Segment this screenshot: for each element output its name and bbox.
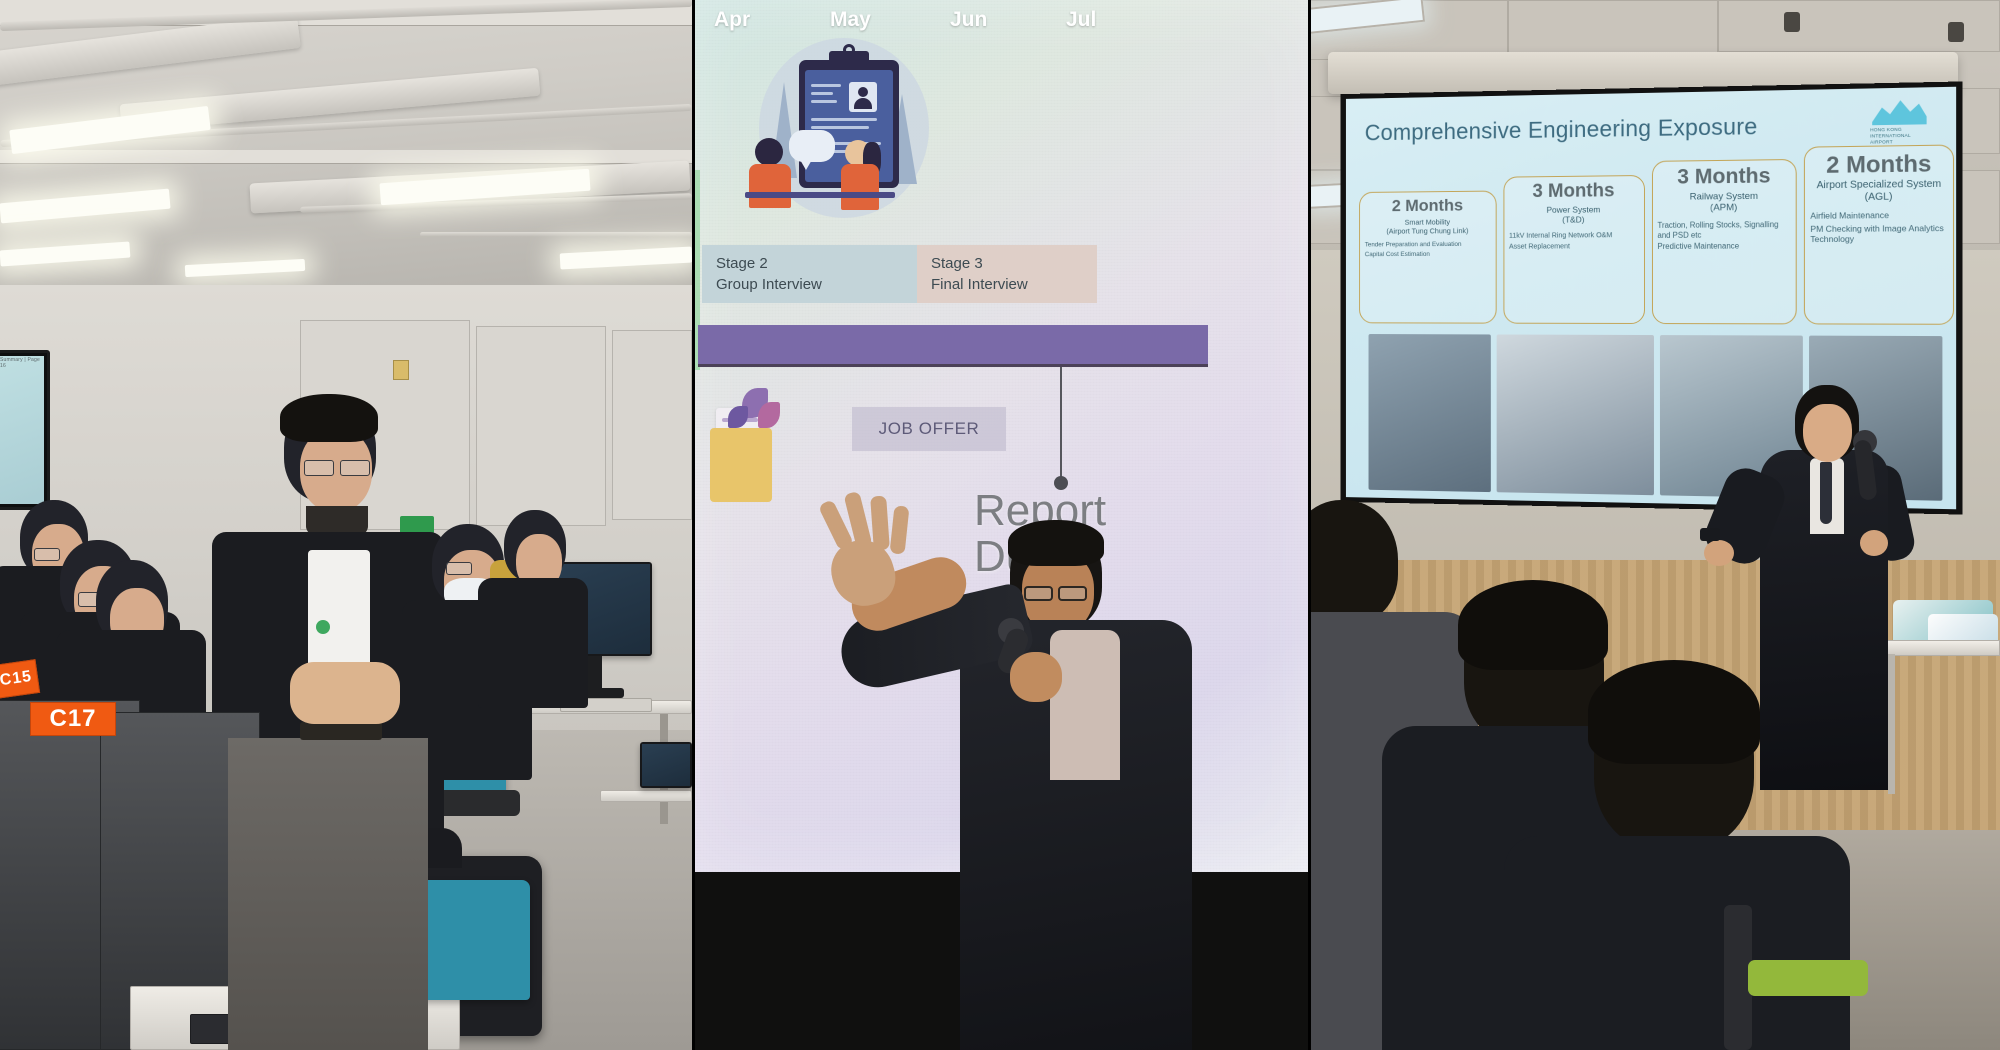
card-3-duration: 3 Months: [1657, 165, 1790, 189]
wall-display-screen: [0, 356, 44, 504]
student-4-glasses: [446, 562, 472, 575]
presenter-right-hand: [1860, 530, 1888, 556]
audience-3-hair: [1588, 660, 1760, 764]
card-2-bullet-2: Asset Replacement: [1509, 241, 1639, 251]
exposure-card-1: 2 Months Smart Mobility (Airport Tung Ch…: [1359, 191, 1496, 324]
decor-petal-2: [758, 402, 780, 428]
interview-illustration: [737, 30, 952, 230]
student-1-glasses: [34, 548, 60, 561]
slide-title: Comprehensive Engineering Exposure: [1365, 113, 1758, 146]
resume-line-2: [811, 92, 833, 95]
illustration-interviewer: [749, 138, 793, 200]
three-panel-photo-collage: Summary | Page 16: [0, 0, 2000, 1050]
speaker-clasped-hands: [290, 662, 400, 724]
panel-divider-2: [1308, 0, 1311, 1050]
ceiling-spotlight-2: [1948, 22, 1964, 42]
speaker-lapel-pin: [316, 620, 330, 634]
card-1-system-line-2: (Airport Tung Chung Link): [1365, 226, 1491, 236]
presenter-left-hand: [1704, 540, 1734, 566]
illustration-table: [745, 192, 895, 198]
wall-panel-3: [612, 330, 692, 520]
resume-avatar: [849, 82, 877, 112]
exposure-card-3: 3 Months Railway System (APM) Traction, …: [1651, 159, 1796, 324]
ceiling-tile-2: [1508, 0, 1718, 56]
avatar-body-icon: [854, 98, 872, 109]
clipboard-ring: [843, 44, 855, 56]
side-table-leg: [1888, 654, 1895, 794]
card-2-bullet-1: 11kV Internal Ring Network O&M: [1509, 230, 1639, 240]
wall-panel-2: [476, 326, 606, 526]
interviewer-head: [755, 138, 783, 166]
presenter-glasses-right: [1058, 586, 1087, 601]
card-4-duration: 2 Months: [1810, 151, 1947, 177]
card-4-bullet-2: PM Checking with Image Analytics Technol…: [1810, 223, 1947, 245]
candidate-body: [841, 164, 879, 210]
resume-line-4: [811, 118, 877, 121]
slide-photo-2: [1497, 334, 1654, 495]
month-jul: Jul: [1066, 8, 1096, 32]
student-5-body: [478, 578, 588, 708]
speaker-glasses-left: [304, 460, 334, 476]
monitor-3-screen: [642, 744, 690, 786]
stage-3-name: Final Interview: [931, 274, 1097, 295]
stage-3-chip: Stage 3 Final Interview: [917, 245, 1097, 303]
stage-2-chip: Stage 2 Group Interview: [702, 245, 917, 303]
card-4-system-line-2: (AGL): [1810, 191, 1947, 205]
stage-2-name: Group Interview: [716, 274, 917, 295]
resume-line-1: [811, 84, 841, 87]
workstation-label-c15: C15: [0, 659, 40, 699]
month-timeline-bar: [698, 325, 1208, 367]
ceiling-pipe-4: [420, 232, 692, 237]
back-desk-2: [600, 790, 692, 802]
speaker-belt: [300, 722, 382, 740]
card-1-bullet-2: Capital Cost Estimation: [1365, 251, 1491, 260]
card-3-system-line-2: (APM): [1657, 202, 1790, 215]
card-2-duration: 3 Months: [1509, 181, 1639, 202]
wall-display-text: Summary | Page 16: [0, 357, 47, 369]
speaker-glasses-right: [340, 460, 370, 476]
interview-stage-row: Stage 2 Group Interview Stage 3 Final In…: [702, 245, 1162, 303]
exposure-card-2: 3 Months Power System (T&D) 11kV Interna…: [1503, 175, 1644, 324]
card-3-bullets: Traction, Rolling Stocks, Signalling and…: [1657, 220, 1790, 254]
month-jun: Jun: [950, 8, 987, 32]
job-offer-chip: JOB OFFER: [852, 407, 1006, 451]
workstation-label-c17: C17: [30, 702, 116, 736]
audience-3-body: [1504, 836, 1850, 1050]
month-apr: Apr: [714, 8, 750, 32]
speaker-trousers: [228, 738, 428, 1050]
timeline-pointer-line: [1060, 367, 1062, 482]
offer-letter-envelope: [710, 428, 772, 502]
hall-presenter-face: [1803, 404, 1852, 462]
panel-divider-1: [692, 0, 695, 1050]
card-1-bullets: Tender Preparation and Evaluation Capita…: [1365, 241, 1491, 262]
hkia-logo-text: HONG KONG INTERNATIONAL AIRPORT: [1870, 127, 1911, 146]
presenter-tie: [1820, 462, 1832, 524]
monitor-3: [640, 742, 692, 788]
speech-bubble-tip: [799, 158, 813, 170]
card-2-system-line-2: (T&D): [1509, 214, 1639, 225]
ceiling-spotlight-1: [1784, 12, 1800, 32]
presenter-shirt: [1050, 630, 1120, 780]
card-4-bullet-1: Airfield Maintenance: [1810, 210, 1947, 222]
audience-2-hair: [1458, 580, 1608, 670]
interviewer-body: [749, 164, 791, 208]
slide-photo-1: [1369, 334, 1491, 492]
resume-line-3: [811, 100, 837, 103]
stage-3-label: Stage 3: [931, 253, 1097, 274]
offer-letter-illustration: [710, 400, 780, 505]
presenter-hair: [1008, 520, 1104, 566]
panel-computer-lab: Summary | Page 16: [0, 0, 692, 1050]
hall-chair-green-seat: [1748, 960, 1868, 996]
resume-line-5: [811, 126, 869, 129]
card-3-bullet-2: Predictive Maintenance: [1657, 242, 1790, 253]
card-2-bullets: 11kV Internal Ring Network O&M Asset Rep…: [1509, 230, 1639, 253]
presentation-clicker: [1700, 528, 1720, 541]
presenter-glasses-left: [1024, 586, 1053, 601]
panel-lecture-hall: Comprehensive Engineering Exposure HONG …: [1308, 0, 2000, 1050]
card-1-bullet-1: Tender Preparation and Evaluation: [1365, 241, 1491, 250]
card-3-bullet-1: Traction, Rolling Stocks, Signalling and…: [1657, 220, 1790, 241]
stage-2-label: Stage 2: [716, 253, 917, 274]
month-may: May: [830, 8, 871, 32]
ceiling-band-2: [0, 150, 692, 164]
card-4-bullets: Airfield Maintenance PM Checking with Im…: [1810, 210, 1947, 247]
avatar-head-icon: [858, 87, 868, 97]
hkia-logo-mark-icon: [1872, 98, 1926, 126]
speaker-hair: [280, 394, 378, 442]
exposure-card-row: 2 Months Smart Mobility (Airport Tung Ch…: [1359, 144, 1954, 324]
panel-projected-slide: Stage 2 Group Interview Stage 3 Final In…: [692, 0, 1308, 1050]
wall-display: Summary | Page 16: [0, 350, 50, 510]
exposure-card-4: 2 Months Airport Specialized System (AGL…: [1804, 144, 1954, 324]
hkia-logo: HONG KONG INTERNATIONAL AIRPORT: [1866, 95, 1939, 143]
presenter-mic-hand: [1010, 652, 1062, 702]
card-1-duration: 2 Months: [1365, 197, 1491, 216]
wall-sign: [393, 360, 409, 380]
